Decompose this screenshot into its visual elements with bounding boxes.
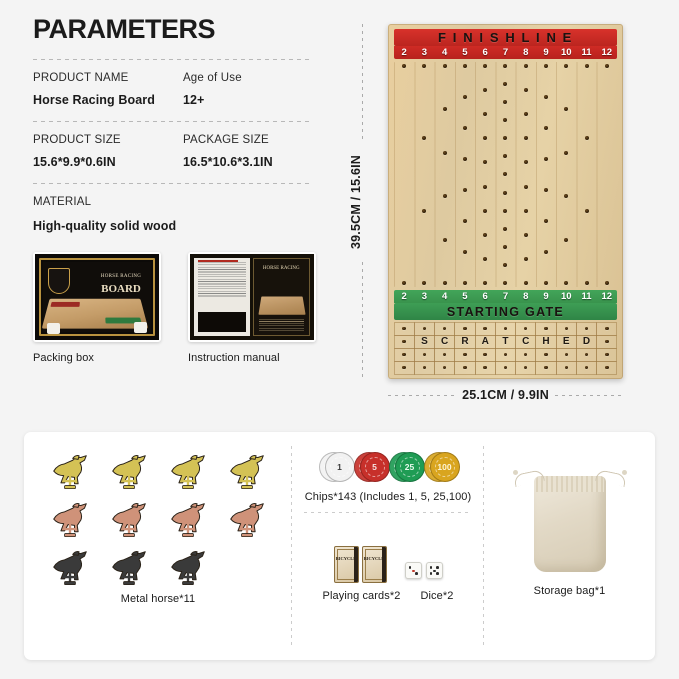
scratched-letter: C xyxy=(441,336,448,347)
peg-hole[interactable] xyxy=(605,353,609,357)
horse-piece[interactable] xyxy=(99,496,158,544)
horse-piece[interactable] xyxy=(40,544,99,592)
peg-hole[interactable] xyxy=(504,366,508,370)
starting-gate-banner: STARTING GATE xyxy=(394,303,617,320)
peg-hole[interactable] xyxy=(503,154,507,158)
dice-caption: Dice*2 xyxy=(420,589,453,605)
peg-hole[interactable] xyxy=(585,353,589,357)
scratched-cell[interactable]: S xyxy=(414,335,435,349)
board-number: 7 xyxy=(495,291,515,302)
scratched-cell[interactable]: C xyxy=(515,335,536,349)
horse-piece[interactable] xyxy=(217,448,276,496)
finish-number-row: 23456789101112 xyxy=(394,46,617,59)
scratched-cell[interactable] xyxy=(454,361,475,375)
chips-group: 1525100 xyxy=(319,432,458,490)
chip[interactable]: 5 xyxy=(360,452,390,482)
board-number: 2 xyxy=(394,291,414,302)
peg-hole[interactable] xyxy=(503,191,507,195)
board-number: 8 xyxy=(516,47,536,58)
card-spine xyxy=(382,547,386,582)
horse-glyph xyxy=(166,549,210,587)
board-number: 10 xyxy=(556,291,576,302)
accessory-storage-bag: Storage bag*1 xyxy=(484,432,655,660)
scratched-cell[interactable]: A xyxy=(475,335,496,349)
peg-hole[interactable] xyxy=(605,64,609,68)
spec-product-name: PRODUCT NAME Horse Racing Board xyxy=(33,72,183,107)
peg-hole[interactable] xyxy=(544,281,548,285)
horse-piece[interactable] xyxy=(217,496,276,544)
peg-lane-8[interactable] xyxy=(516,62,536,287)
board-number: 4 xyxy=(435,47,455,58)
scratched-cell[interactable] xyxy=(434,361,455,375)
horse-piece[interactable] xyxy=(99,448,158,496)
scratched-cell[interactable] xyxy=(434,348,455,362)
scratched-cell[interactable] xyxy=(475,322,496,336)
horse-glyph xyxy=(48,453,92,491)
peg-hole[interactable] xyxy=(463,64,467,68)
peg-hole[interactable] xyxy=(524,160,528,164)
peg-hole[interactable] xyxy=(585,136,589,140)
scratched-cell[interactable]: D xyxy=(576,335,597,349)
board-number: 10 xyxy=(556,47,576,58)
manual-image: HORSE RACING xyxy=(190,254,314,340)
scratched-cell[interactable] xyxy=(576,361,597,375)
horse-glyph xyxy=(166,453,210,491)
scratched-cell[interactable] xyxy=(414,348,435,362)
scratched-cell[interactable] xyxy=(495,322,516,336)
peg-hole[interactable] xyxy=(402,366,406,370)
scratched-letter: C xyxy=(522,336,529,347)
peg-hole[interactable] xyxy=(503,227,507,231)
scratched-letter: A xyxy=(482,336,489,347)
divider xyxy=(33,59,310,60)
peg-hole[interactable] xyxy=(443,151,447,155)
packing-box-image: HORSE RACING BOARD xyxy=(35,254,159,340)
peg-hole[interactable] xyxy=(463,126,467,130)
peg-hole[interactable] xyxy=(565,366,569,370)
scratched-cell[interactable] xyxy=(515,348,536,362)
peg-hole[interactable] xyxy=(423,327,427,331)
peg-hole[interactable] xyxy=(544,219,548,223)
spec-value: 15.6*9.9*0.6IN xyxy=(33,155,183,169)
peg-hole[interactable] xyxy=(423,366,427,370)
peg-hole[interactable] xyxy=(443,327,447,331)
finish-line-banner: F I N I S H L I N E xyxy=(394,29,617,46)
scratched-cell[interactable] xyxy=(394,361,415,375)
peg-hole[interactable] xyxy=(544,327,548,331)
scratched-cell[interactable] xyxy=(596,322,617,336)
cards-dice-group: BICYCLE BICYCLE xyxy=(334,521,443,583)
manual-dark-block xyxy=(198,312,246,332)
peg-hole[interactable] xyxy=(503,172,507,176)
board-figure: 39.5CM / 15.6IN F I N I S H L I N E 2345… xyxy=(341,22,641,412)
spec-label: PRODUCT SIZE xyxy=(33,134,183,146)
scratched-letter: H xyxy=(542,336,549,347)
scratched-cell[interactable] xyxy=(515,322,536,336)
spec-value: 12+ xyxy=(183,93,310,107)
dimension-width-label: 25.1CM / 9.9IN xyxy=(462,388,549,402)
scratched-cell[interactable] xyxy=(414,322,435,336)
peg-hole[interactable] xyxy=(402,327,406,331)
peg-hole[interactable] xyxy=(564,151,568,155)
scratched-cell[interactable] xyxy=(394,322,415,336)
horse-glyph xyxy=(107,453,151,491)
peg-hole[interactable] xyxy=(585,281,589,285)
scratched-cell[interactable]: E xyxy=(556,335,577,349)
peg-hole[interactable] xyxy=(463,157,467,161)
peg-hole[interactable] xyxy=(402,281,406,285)
peg-hole[interactable] xyxy=(524,353,528,357)
scratched-cell[interactable] xyxy=(576,348,597,362)
board-number: 6 xyxy=(475,291,495,302)
peg-hole[interactable] xyxy=(524,233,528,237)
scratched-letter: E xyxy=(563,336,570,347)
scratched-cell[interactable]: H xyxy=(535,335,556,349)
peg-hole[interactable] xyxy=(402,353,406,357)
starting-gate-text: STARTING GATE xyxy=(447,305,564,319)
peg-hole[interactable] xyxy=(503,281,507,285)
horse-piece[interactable] xyxy=(158,544,217,592)
peg-hole[interactable] xyxy=(443,366,447,370)
drawstring-tip xyxy=(622,470,627,475)
peg-hole[interactable] xyxy=(564,64,568,68)
peg-hole[interactable] xyxy=(564,281,568,285)
scratched-cell[interactable] xyxy=(556,322,577,336)
scratched-cell[interactable] xyxy=(394,348,415,362)
peg-lane-6[interactable] xyxy=(475,62,495,287)
horse-piece[interactable] xyxy=(99,544,158,592)
peg-hole[interactable] xyxy=(544,188,548,192)
peg-hole[interactable] xyxy=(524,366,528,370)
peg-hole[interactable] xyxy=(483,327,487,331)
scratched-cell[interactable] xyxy=(475,361,496,375)
peg-hole[interactable] xyxy=(463,219,467,223)
box-art-title: HORSE RACING BOARD xyxy=(92,273,150,297)
scratched-letter: R xyxy=(461,336,468,347)
peg-hole[interactable] xyxy=(504,327,508,331)
peg-hole[interactable] xyxy=(503,209,507,213)
spec-label: MATERIAL xyxy=(33,196,310,208)
storage-bag-image xyxy=(522,458,618,574)
horse-glyph xyxy=(225,453,269,491)
box-art-dice xyxy=(47,323,60,334)
scratched-row-top xyxy=(394,322,617,335)
horse-glyph xyxy=(48,549,92,587)
board-number: 9 xyxy=(536,291,556,302)
peg-hole[interactable] xyxy=(422,209,426,213)
peg-lane-9[interactable] xyxy=(536,62,556,287)
peg-hole[interactable] xyxy=(585,209,589,213)
manual-text-lines xyxy=(198,262,246,298)
scratched-cell[interactable]: R xyxy=(454,335,475,349)
peg-hole[interactable] xyxy=(544,250,548,254)
peg-hole[interactable] xyxy=(524,281,528,285)
chip-stack-5[interactable]: 5 xyxy=(354,450,388,484)
thumbnail-frame: HORSE RACING xyxy=(188,252,316,342)
accessory-horses: Metal horse*11 xyxy=(24,432,292,660)
chip-stack-25[interactable]: 25 xyxy=(389,450,423,484)
spec-label: PACKAGE SIZE xyxy=(183,134,310,146)
board-number: 9 xyxy=(536,47,556,58)
chip-ring xyxy=(365,457,385,477)
peg-hole[interactable] xyxy=(503,118,507,122)
peg-hole[interactable] xyxy=(483,136,487,140)
dimension-width: 25.1CM / 9.9IN xyxy=(388,388,623,402)
spec-value: Horse Racing Board xyxy=(33,93,183,107)
board-number: 3 xyxy=(414,47,434,58)
scratched-cell[interactable] xyxy=(535,361,556,375)
peg-hole[interactable] xyxy=(483,185,487,189)
peg-hole[interactable] xyxy=(564,194,568,198)
scratched-cell[interactable] xyxy=(434,322,455,336)
peg-hole[interactable] xyxy=(605,327,609,331)
peg-lane-3[interactable] xyxy=(414,62,434,287)
peg-hole[interactable] xyxy=(585,64,589,68)
scratched-row-mid xyxy=(394,348,617,361)
peg-hole[interactable] xyxy=(463,281,467,285)
dimension-tick xyxy=(362,262,363,380)
horse-racing-board: F I N I S H L I N E 23456789101112 23456… xyxy=(388,24,623,379)
accessory-mid-column: 1525100 Chips*143 (Includes 1, 5, 25,100… xyxy=(292,432,484,660)
dimension-height-label: 39.5CM / 15.6IN xyxy=(349,155,363,249)
divider xyxy=(33,183,310,184)
spec-value: 16.5*10.6*3.1IN xyxy=(183,155,310,169)
peg-lane-12[interactable] xyxy=(597,62,617,287)
peg-hole[interactable] xyxy=(463,353,467,357)
chip-stack-1[interactable]: 1 xyxy=(319,450,353,484)
peg-hole[interactable] xyxy=(402,340,406,344)
board-number: 5 xyxy=(455,291,475,302)
board-number: 2 xyxy=(394,47,414,58)
peg-hole[interactable] xyxy=(443,107,447,111)
card-deck: BICYCLE xyxy=(334,546,359,583)
spec-value: High-quality solid wood xyxy=(33,217,310,235)
peg-hole[interactable] xyxy=(503,100,507,104)
peg-lane-2[interactable] xyxy=(394,62,414,287)
peg-hole[interactable] xyxy=(443,194,447,198)
spec-label: Age of Use xyxy=(183,72,310,84)
scratched-cell[interactable] xyxy=(576,322,597,336)
scratched-cell[interactable] xyxy=(454,322,475,336)
board-number: 8 xyxy=(516,291,536,302)
peg-lane-10[interactable] xyxy=(556,62,576,287)
peg-hole[interactable] xyxy=(422,281,426,285)
chip[interactable]: 100 xyxy=(430,452,460,482)
peg-hole[interactable] xyxy=(503,245,507,249)
peg-hole[interactable] xyxy=(443,281,447,285)
scratched-row-bottom xyxy=(394,361,617,374)
peg-hole[interactable] xyxy=(463,95,467,99)
peg-hole[interactable] xyxy=(483,112,487,116)
card-spine xyxy=(354,547,358,582)
peg-hole[interactable] xyxy=(544,64,548,68)
scratched-letter: D xyxy=(583,336,590,347)
peg-hole[interactable] xyxy=(565,327,569,331)
spec-product-size: PRODUCT SIZE 15.6*9.9*0.6IN xyxy=(33,134,183,169)
dimension-tick xyxy=(362,24,363,142)
scratched-cell[interactable] xyxy=(495,361,516,375)
peg-hole[interactable] xyxy=(483,257,487,261)
scratched-cell[interactable]: C xyxy=(434,335,455,349)
horse-glyph xyxy=(107,501,151,539)
die xyxy=(405,562,422,579)
peg-hole[interactable] xyxy=(483,281,487,285)
peg-hole[interactable] xyxy=(503,136,507,140)
scratched-cell[interactable] xyxy=(495,348,516,362)
scratched-cell[interactable] xyxy=(515,361,536,375)
peg-hole[interactable] xyxy=(503,263,507,267)
scratched-cell[interactable] xyxy=(394,335,415,349)
peg-hole[interactable] xyxy=(504,353,508,357)
peg-hole[interactable] xyxy=(524,209,528,213)
horse-glyph xyxy=(107,549,151,587)
board-number: 5 xyxy=(455,47,475,58)
parameters-section: PARAMETERS PRODUCT NAME Horse Racing Boa… xyxy=(33,14,310,364)
scratched-cell[interactable] xyxy=(475,348,496,362)
board-number: 11 xyxy=(576,291,596,302)
peg-hole[interactable] xyxy=(483,353,487,357)
die xyxy=(426,562,443,579)
drawstring-tip xyxy=(513,470,518,475)
dimension-line xyxy=(388,395,456,396)
chip-ring xyxy=(400,457,420,477)
thumbnail-caption: Packing box xyxy=(33,352,161,364)
cards-dice-captions: Playing cards*2 Dice*2 xyxy=(323,589,454,605)
peg-hole[interactable] xyxy=(463,188,467,192)
peg-hole[interactable] xyxy=(524,257,528,261)
peg-hole[interactable] xyxy=(524,64,528,68)
scratched-cell[interactable] xyxy=(535,348,556,362)
chip-ring xyxy=(330,457,350,477)
peg-hole[interactable] xyxy=(524,136,528,140)
peg-hole[interactable] xyxy=(463,327,467,331)
peg-hole[interactable] xyxy=(605,366,609,370)
scratched-cell[interactable] xyxy=(596,348,617,362)
box-title-small: HORSE RACING xyxy=(101,274,141,279)
peg-hole[interactable] xyxy=(443,238,447,242)
scratched-cell[interactable] xyxy=(454,348,475,362)
scratched-cell[interactable] xyxy=(596,335,617,349)
peg-hole[interactable] xyxy=(565,353,569,357)
box-title-big: BOARD xyxy=(92,281,150,298)
manual-title: HORSE RACING xyxy=(254,265,310,273)
panel-divider xyxy=(304,512,472,513)
horse-glyph xyxy=(48,501,92,539)
horse-glyph xyxy=(225,501,269,539)
bag-caption: Storage bag*1 xyxy=(534,584,606,600)
peg-track xyxy=(394,62,617,287)
bag-neck xyxy=(536,476,604,492)
peg-lane-4[interactable] xyxy=(435,62,455,287)
peg-hole[interactable] xyxy=(483,366,487,370)
peg-hole[interactable] xyxy=(402,64,406,68)
thumbnail-packing-box: HORSE RACING BOARD Packing box xyxy=(33,252,161,364)
peg-hole[interactable] xyxy=(422,136,426,140)
peg-hole[interactable] xyxy=(483,160,487,164)
peg-hole[interactable] xyxy=(463,366,467,370)
spec-label: PRODUCT NAME xyxy=(33,72,183,84)
horse-piece[interactable] xyxy=(40,448,99,496)
board-number: 12 xyxy=(597,47,617,58)
horse-glyph xyxy=(166,501,210,539)
chip[interactable]: 1 xyxy=(325,452,355,482)
peg-lane-5[interactable] xyxy=(455,62,475,287)
peg-hole[interactable] xyxy=(605,281,609,285)
scratched-cell[interactable] xyxy=(556,348,577,362)
thumbnail-caption: Instruction manual xyxy=(188,352,316,364)
scratched-row-letters: SCRATCHED xyxy=(394,335,617,348)
peg-hole[interactable] xyxy=(564,238,568,242)
manual-board-art xyxy=(258,297,305,315)
chip-stack-100[interactable]: 100 xyxy=(424,450,458,484)
spec-material: MATERIAL High-quality solid wood xyxy=(33,196,310,235)
scratched-cell[interactable]: T xyxy=(495,335,516,349)
peg-hole[interactable] xyxy=(443,64,447,68)
peg-hole[interactable] xyxy=(483,88,487,92)
scratched-cell[interactable] xyxy=(556,361,577,375)
chip[interactable]: 25 xyxy=(395,452,425,482)
peg-hole[interactable] xyxy=(483,209,487,213)
peg-hole[interactable] xyxy=(524,185,528,189)
playing-cards: BICYCLE BICYCLE xyxy=(334,546,387,583)
peg-hole[interactable] xyxy=(544,353,548,357)
peg-hole[interactable] xyxy=(544,366,548,370)
peg-hole[interactable] xyxy=(463,250,467,254)
peg-hole[interactable] xyxy=(524,327,528,331)
cards-caption: Playing cards*2 xyxy=(323,589,401,605)
peg-hole[interactable] xyxy=(503,82,507,86)
peg-hole[interactable] xyxy=(422,64,426,68)
spec-row-name: PRODUCT NAME Horse Racing Board Age of U… xyxy=(33,72,310,107)
peg-lane-11[interactable] xyxy=(576,62,596,287)
scratched-cell[interactable] xyxy=(414,361,435,375)
scratched-letter: S xyxy=(421,336,428,347)
peg-hole[interactable] xyxy=(503,64,507,68)
dimension-height: 39.5CM / 15.6IN xyxy=(341,22,371,382)
scratched-cell[interactable] xyxy=(596,361,617,375)
board-number: 12 xyxy=(597,291,617,302)
board-number: 4 xyxy=(435,291,455,302)
horses-caption: Metal horse*11 xyxy=(121,592,196,608)
box-art-dice xyxy=(134,322,147,333)
peg-hole[interactable] xyxy=(544,157,548,161)
peg-hole[interactable] xyxy=(423,353,427,357)
scratched-cell[interactable] xyxy=(535,322,556,336)
peg-hole[interactable] xyxy=(544,126,548,130)
peg-lane-7[interactable] xyxy=(495,62,515,287)
board-number: 3 xyxy=(414,291,434,302)
peg-hole[interactable] xyxy=(605,340,609,344)
dice-group xyxy=(405,562,443,583)
board-number: 11 xyxy=(576,47,596,58)
horse-piece[interactable] xyxy=(158,496,217,544)
horse-piece[interactable] xyxy=(40,496,99,544)
peg-hole[interactable] xyxy=(585,327,589,331)
peg-hole[interactable] xyxy=(483,64,487,68)
board-number: 7 xyxy=(495,47,515,58)
peg-hole[interactable] xyxy=(585,366,589,370)
peg-hole[interactable] xyxy=(443,353,447,357)
finish-line-text: F I N I S H L I N E xyxy=(438,30,573,45)
peg-hole[interactable] xyxy=(524,88,528,92)
peg-hole[interactable] xyxy=(564,107,568,111)
peg-hole[interactable] xyxy=(483,233,487,237)
accessories-panel: Metal horse*11 1525100 Chips*143 (Includ… xyxy=(24,432,655,660)
peg-hole[interactable] xyxy=(544,95,548,99)
spec-age-of-use: Age of Use 12+ xyxy=(183,72,310,107)
horse-piece[interactable] xyxy=(158,448,217,496)
peg-hole[interactable] xyxy=(524,112,528,116)
